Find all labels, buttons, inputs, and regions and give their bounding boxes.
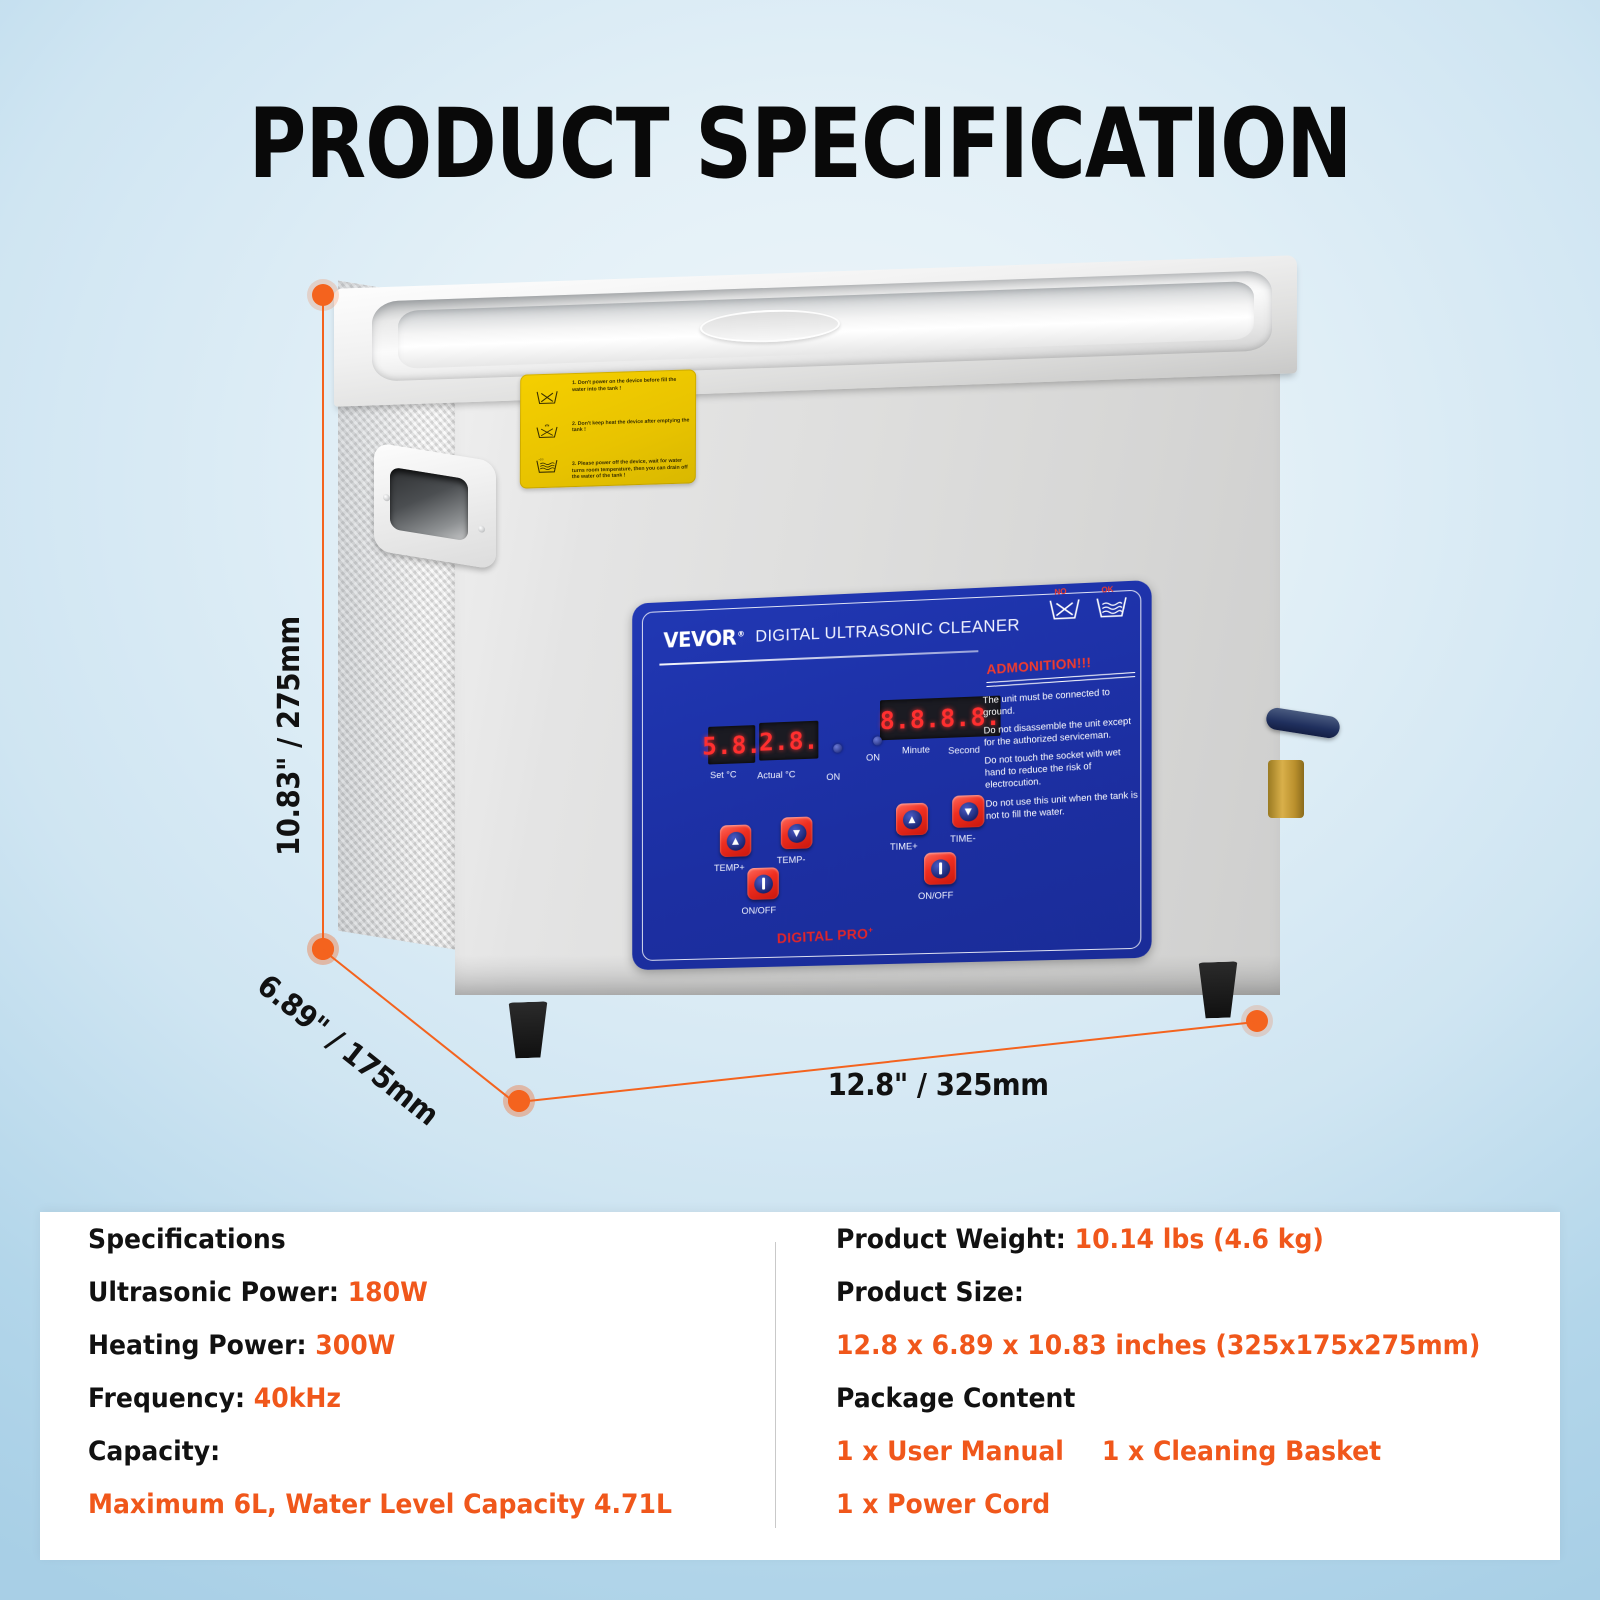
actual-temp-display: 2.8. [759, 721, 818, 761]
digital-pro-logo: DIGITAL PRO+ [777, 925, 874, 946]
drain-valve-fitting [1268, 760, 1304, 818]
set-temp-display: 5.8. [708, 725, 755, 764]
temp-onoff-button[interactable] [747, 867, 778, 900]
spec-value-product-weight: 10.14 lbs (4.6 kg) [1075, 1224, 1324, 1255]
basin-no-water-icon [534, 390, 560, 406]
dim-label-depth: 6.89" / 175mm [250, 968, 445, 1133]
admonition-line-4: Do not use this unit when the tank is no… [985, 788, 1141, 822]
second-label: Second [948, 745, 980, 756]
warning-sticker-line-2: 2. Don't keep heat the device after empt… [572, 417, 690, 434]
ok-water-label: OK [1101, 585, 1114, 595]
ok-water-icon: OK [1094, 587, 1129, 619]
time-onoff-button[interactable] [924, 852, 956, 885]
svg-text:≈2/3: ≈2/3 [539, 458, 544, 461]
admonition-line-2: Do not disassemble the unit except for t… [983, 715, 1138, 749]
spec-value-heating-power: 300W [315, 1330, 395, 1361]
warning-sticker-line-1: 1. Don't power on the device before fill… [572, 376, 690, 393]
arrow-down-icon: ▼ [787, 823, 806, 842]
arrow-up-icon: ▲ [726, 831, 745, 850]
specs-heading: Specifications [88, 1226, 693, 1253]
time-onoff-label: ON/OFF [918, 890, 953, 901]
dim-label-width: 12.8" / 325mm [828, 1068, 1049, 1103]
temp-down-label: TEMP- [777, 855, 806, 866]
spec-label-heating-power: Heating Power: [88, 1330, 307, 1361]
timer-on-led-icon [873, 736, 882, 745]
spec-row-product-weight: Product Weight: 10.14 lbs (4.6 kg) [836, 1226, 1487, 1253]
time-up-label: TIME+ [890, 841, 918, 852]
admonition-text: The unit must be connected to ground. Do… [983, 684, 1142, 828]
rubber-foot [506, 1001, 550, 1059]
temp-on-led-icon [833, 744, 842, 753]
time-down-label: TIME- [950, 833, 975, 844]
spec-label-capacity: Capacity: [88, 1436, 220, 1467]
specifications-left-column: Specifications Ultrasonic Power: 180W He… [88, 1226, 738, 1544]
spec-value-frequency: 40kHz [254, 1383, 341, 1414]
handle-screw-icon [383, 494, 390, 502]
admonition-line-3: Do not touch the socket with wet hand to… [984, 745, 1140, 791]
spec-row-ultrasonic-power: Ultrasonic Power: 180W [88, 1279, 693, 1306]
set-temp-value: 5.8. [702, 731, 761, 758]
actual-temp-label: Actual °C [757, 769, 795, 780]
package-item-power-cord: 1 x Power Cord [836, 1491, 1487, 1518]
spec-label-product-size: Product Size: [836, 1279, 1487, 1306]
temp-up-button[interactable]: ▲ [720, 824, 751, 857]
power-icon [754, 874, 773, 893]
set-temp-label: Set °C [710, 769, 736, 780]
spec-row-frequency: Frequency: 40kHz [88, 1385, 693, 1412]
time-up-button[interactable]: ▲ [896, 803, 928, 836]
handle-screw-icon [478, 525, 485, 533]
actual-temp-value: 2.8. [759, 727, 818, 754]
control-panel-subtitle: DIGITAL ULTRASONIC CLEANER [755, 616, 1020, 647]
basin-no-heat-icon [534, 423, 560, 439]
warning-sticker-line-3: 3. Please power off the device, wait for… [572, 457, 690, 481]
vevor-logo: VEVOR® [663, 625, 744, 652]
temp-onoff-label: ON/OFF [741, 905, 776, 916]
registered-mark-icon: ® [737, 629, 744, 638]
basin-water-level-icon: ≈2/3 [534, 457, 560, 473]
spec-label-product-weight: Product Weight: [836, 1224, 1066, 1255]
temp-up-label: TEMP+ [714, 862, 745, 873]
spec-label-ultrasonic-power: Ultrasonic Power: [88, 1277, 339, 1308]
warning-sticker: ≈2/3 1. Don't power on the device before… [520, 369, 696, 489]
minute-label: Minute [902, 744, 930, 755]
specifications-divider [775, 1242, 776, 1528]
arrow-down-icon: ▼ [959, 802, 978, 822]
admonition-line-1: The unit must be connected to ground. [983, 684, 1138, 719]
carry-handle-opening [390, 467, 468, 542]
spec-row-capacity: Capacity: [88, 1438, 693, 1465]
wash-indicator-icons: NO OK [1047, 587, 1129, 621]
temp-down-button[interactable]: ▼ [781, 816, 813, 849]
specifications-right-column: Product Weight: 10.14 lbs (4.6 kg) Produ… [836, 1226, 1536, 1544]
package-content-heading: Package Content [836, 1385, 1487, 1412]
spec-row-heating-power: Heating Power: 300W [88, 1332, 693, 1359]
spec-value-ultrasonic-power: 180W [348, 1277, 428, 1308]
timer-on-label: ON [866, 752, 880, 762]
spec-label-frequency: Frequency: [88, 1383, 245, 1414]
spec-value-product-size: 12.8 x 6.89 x 10.83 inches (325x175x275m… [836, 1332, 1487, 1359]
warning-sticker-text: 1. Don't power on the device before fill… [572, 376, 690, 481]
control-panel: VEVOR® DIGITAL ULTRASONIC CLEANER NO OK … [632, 580, 1151, 970]
package-item-cleaning-basket: 1 x Cleaning Basket [1102, 1436, 1381, 1467]
rubber-foot [1196, 961, 1240, 1019]
arrow-up-icon: ▲ [902, 809, 921, 829]
carry-handle [374, 442, 496, 570]
package-item-user-manual: 1 x User Manual [836, 1436, 1064, 1467]
power-icon [931, 859, 950, 879]
time-down-button[interactable]: ▼ [952, 795, 984, 828]
digital-pro-plus-icon: + [868, 925, 873, 934]
temp-on-label: ON [826, 772, 840, 782]
product-image: ≈2/3 1. Don't power on the device before… [0, 0, 1600, 1200]
no-water-label: NO [1054, 587, 1067, 597]
dim-line-height [322, 295, 324, 945]
package-content-row-1: 1 x User Manual 1 x Cleaning Basket [836, 1438, 1487, 1465]
dim-label-height: 10.83" / 275mm [272, 616, 307, 856]
warning-sticker-icons: ≈2/3 [527, 380, 567, 482]
no-water-icon: NO [1047, 589, 1082, 621]
spec-value-capacity-detail: Maximum 6L, Water Level Capacity 4.71L [88, 1491, 693, 1518]
